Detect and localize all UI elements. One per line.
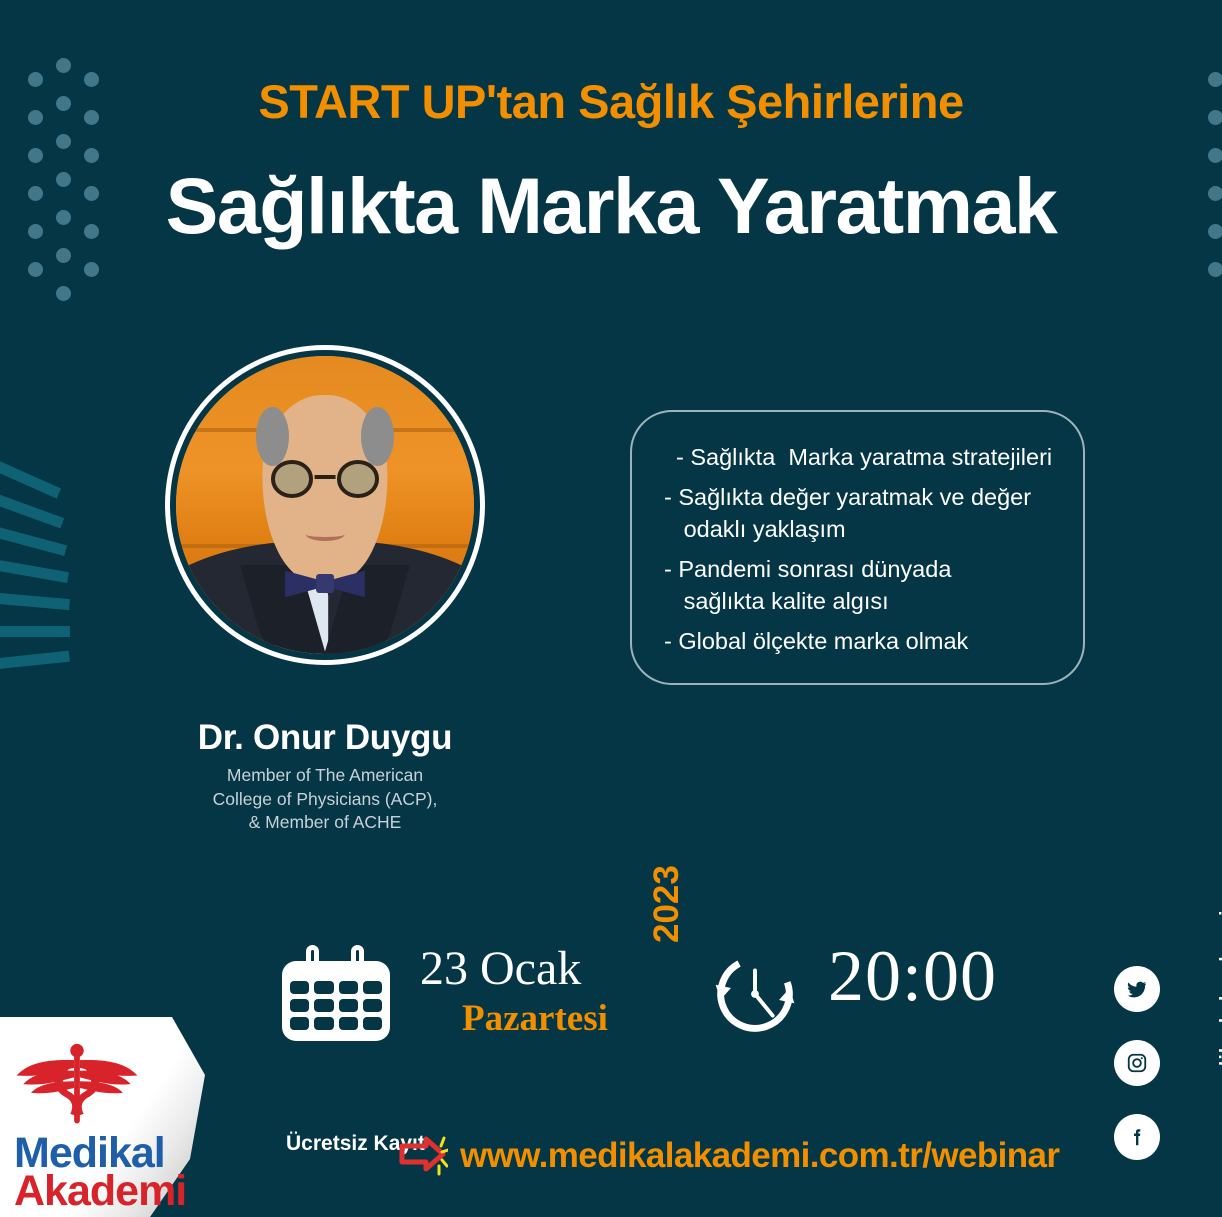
topics-box: - Sağlıkta Marka yaratma stratejileri - …: [630, 410, 1085, 685]
dot: [28, 262, 43, 277]
page-title: Sağlıkta Marka Yaratmak: [0, 160, 1222, 252]
facebook-icon[interactable]: [1114, 1114, 1160, 1160]
social-handle: medikalakademi: [1214, 910, 1222, 1115]
avatar: [176, 356, 474, 654]
webinar-poster: START UP'tan Sağlık Şehirlerine Sağlıkta…: [0, 0, 1222, 1217]
brand-logo: Medikal Akademi: [0, 1017, 216, 1217]
click-cursor-icon: [398, 1132, 448, 1178]
event-year: 2023: [647, 865, 687, 943]
dot: [56, 58, 71, 73]
topics-list: - Sağlıkta Marka yaratma stratejileri - …: [664, 442, 1057, 658]
list-item: - Sağlıkta Marka yaratma stratejileri: [664, 442, 1057, 473]
dot: [56, 134, 71, 149]
list-item: - Sağlıkta değer yaratmak ve değer odakl…: [664, 482, 1057, 545]
social-links: [1114, 966, 1160, 1188]
logo-text-line2: Akademi: [14, 1167, 186, 1216]
list-item: - Global ölçekte marka olmak: [664, 626, 1057, 657]
dot: [84, 262, 99, 277]
event-date: 23 Ocak: [420, 941, 581, 996]
clock-icon: [706, 945, 804, 1043]
list-item: - Pandemi sonrası dünyada sağlıkta kalit…: [664, 554, 1057, 617]
speaker-credentials: Member of The American College of Physic…: [0, 764, 650, 835]
event-time: 20:00: [828, 935, 997, 1018]
stripe-decoration: [0, 430, 72, 690]
twitter-icon[interactable]: [1114, 966, 1160, 1012]
kicker-heading: START UP'tan Sağlık Şehirlerine: [0, 74, 1222, 129]
event-weekday: Pazartesi: [462, 997, 608, 1040]
speaker-name: Dr. Onur Duygu: [0, 718, 650, 758]
dot: [56, 286, 71, 301]
calendar-icon: [282, 945, 390, 1041]
instagram-icon[interactable]: [1114, 1040, 1160, 1086]
dot: [1208, 262, 1222, 277]
registration-url[interactable]: www.medikalakademi.com.tr/webinar: [460, 1136, 1059, 1176]
speaker-portrait-frame: [165, 345, 485, 665]
caduceus-icon: [14, 1041, 140, 1133]
